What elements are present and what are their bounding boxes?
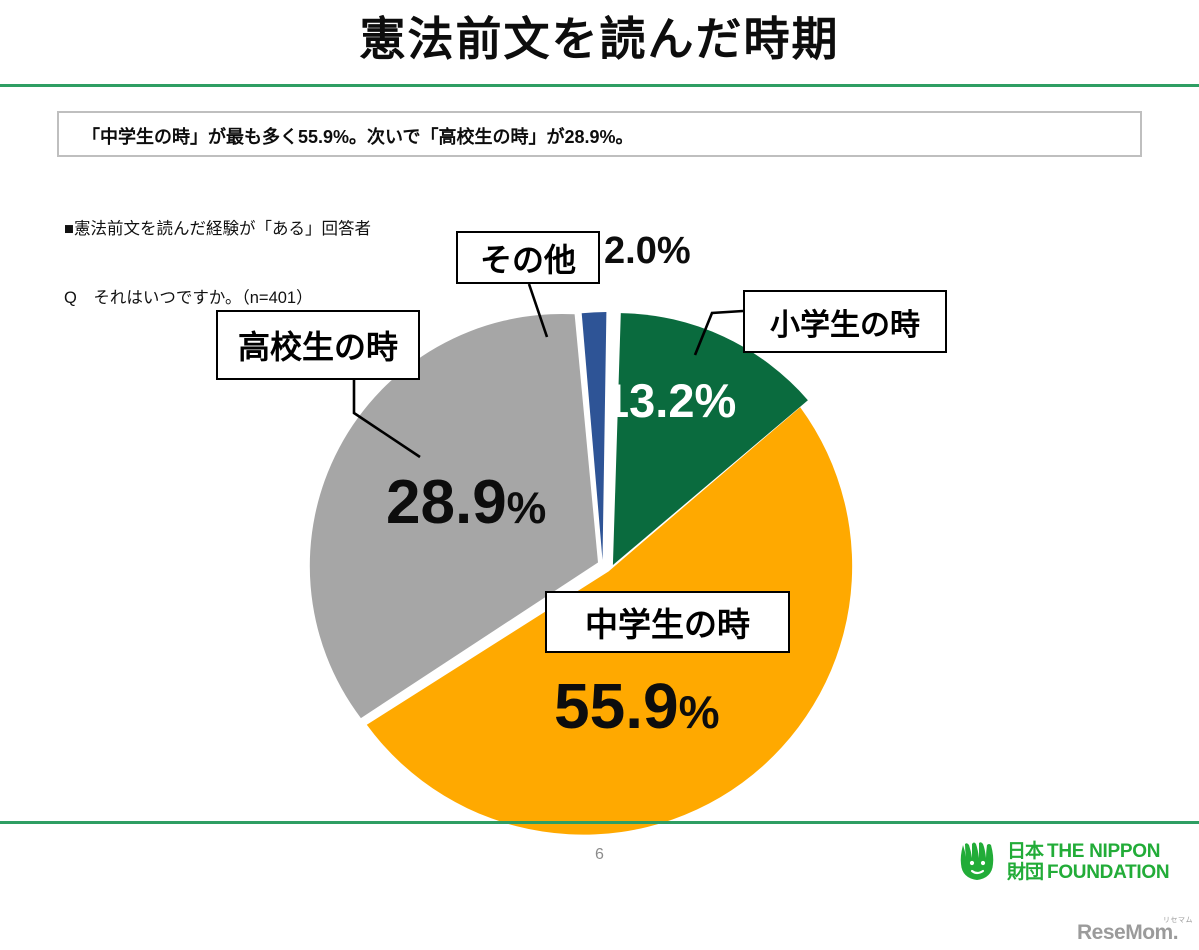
question-target-line: ■憲法前文を読んだ経験が「ある」回答者 (64, 218, 371, 241)
logo-en-line-2: FOUNDATION (1047, 862, 1169, 883)
pie-value-junior: 55.9% (554, 674, 720, 738)
leader-line-high (354, 380, 420, 457)
pie-label-elementary: 小学生の時 (743, 290, 947, 353)
pie-value-elementary: 13.2% (603, 377, 736, 424)
pie-value-high: 28.9% (386, 472, 546, 534)
footer-divider (0, 821, 1199, 824)
summary-text: 「中学生の時」が最も多く55.9%。次いで「高校生の時」が28.9%。 (82, 123, 634, 149)
logo-en-line-1: THE NIPPON (1047, 841, 1160, 862)
pie-value-other: 2.0% (604, 232, 691, 270)
header-divider (0, 84, 1199, 87)
question-text-line: Q それはいつですか。（n=401） (64, 287, 371, 310)
logo-jp-line-2: 財団 (1007, 862, 1043, 883)
pie-slice-other (582, 312, 607, 560)
summary-box: 「中学生の時」が最も多く55.9%。次いで「高校生の時」が28.9%。 (57, 111, 1142, 157)
pie-value-high-number: 28.9 (386, 468, 507, 537)
logo-jp-line-1: 日本 (1007, 841, 1043, 862)
pie-value-elementary-text: 13.2% (603, 374, 736, 427)
pie-label-other: その他 (456, 231, 600, 284)
leader-line-other (529, 284, 547, 337)
pie-value-other-text: 2.0% (604, 230, 691, 272)
pie-value-junior-symbol: % (679, 686, 720, 738)
nippon-foundation-mark-icon (954, 840, 1000, 884)
pie-value-high-symbol: % (507, 484, 547, 533)
question-block: ■憲法前文を読んだ経験が「ある」回答者 Q それはいつですか。（n=401） (64, 172, 371, 333)
nippon-foundation-logo: 日本 THE NIPPON 財団 FOUNDATION (954, 840, 1169, 884)
pie-value-junior-number: 55.9 (554, 670, 679, 742)
resemom-watermark-ruby: リセマム (1163, 915, 1193, 925)
leader-line-elementary (695, 311, 743, 355)
pie-label-high: 高校生の時 (216, 310, 420, 380)
page-title: 憲法前文を読んだ時期 (0, 6, 1199, 72)
pie-label-junior: 中学生の時 (545, 591, 790, 653)
